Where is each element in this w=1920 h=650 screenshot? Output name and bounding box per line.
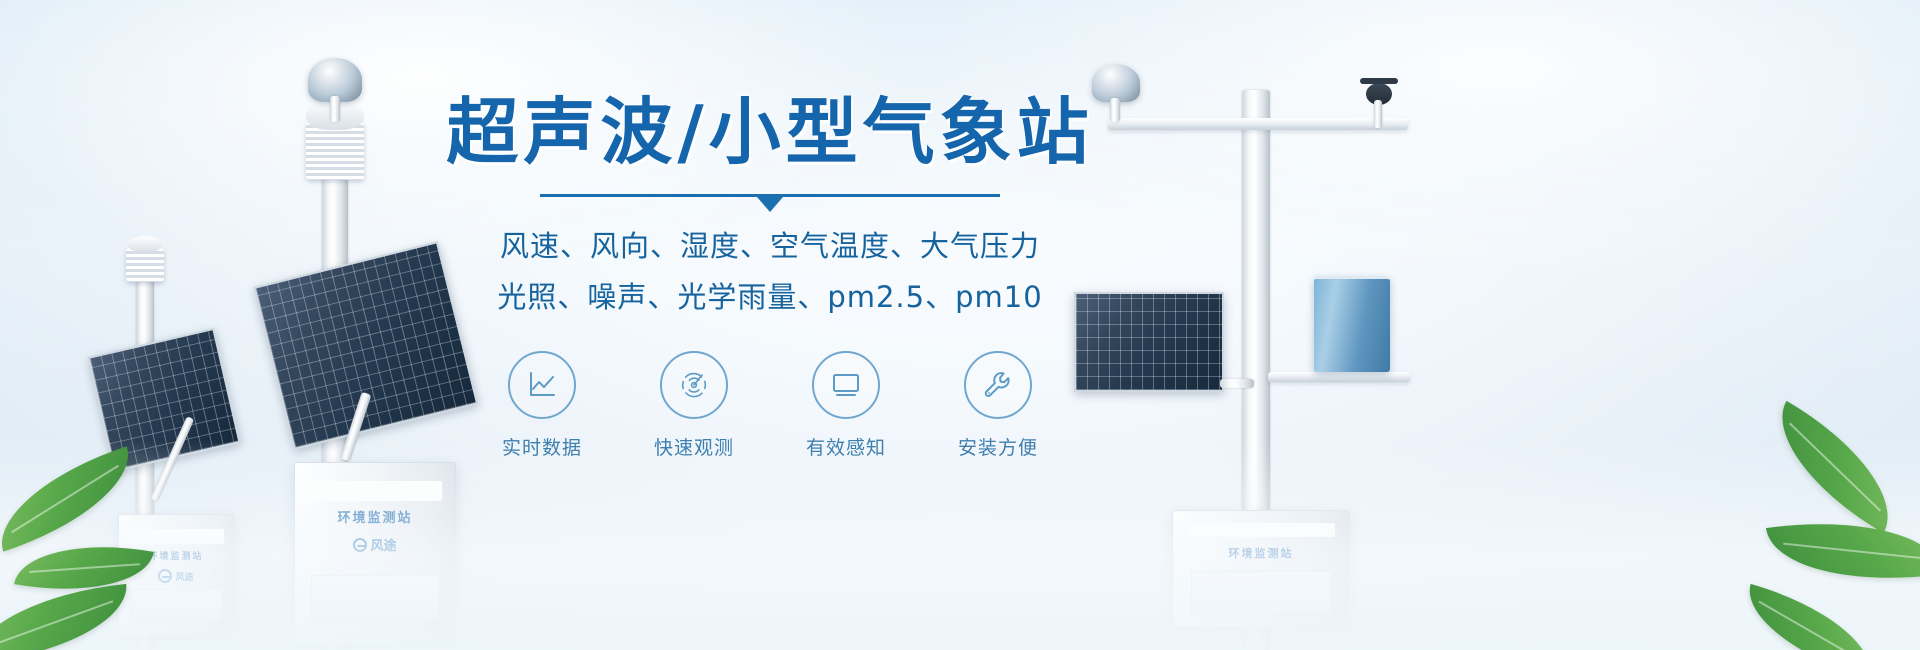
equipment-cabinet: 环境监测站 风途	[294, 462, 456, 644]
brand-name: 风途	[370, 535, 396, 554]
brand-mark-icon	[353, 538, 367, 552]
rain-gauge-sensor	[1314, 276, 1390, 372]
vane-cups-icon	[1360, 78, 1398, 84]
radiation-shield-sensor	[126, 248, 164, 282]
feature-label: 实时数据	[486, 433, 598, 460]
feature-list: 实时数据	[440, 351, 1100, 460]
feature-label: 有效感知	[790, 433, 902, 460]
feature-item-fast-observation[interactable]: 快速观测	[638, 351, 750, 460]
cabinet-band	[308, 481, 442, 501]
title-divider	[540, 194, 1000, 197]
sensor-stem	[1110, 98, 1120, 122]
radar-signal-icon	[677, 368, 711, 402]
feature-icon-circle	[964, 351, 1032, 419]
cross-arm	[1108, 118, 1408, 130]
cabinet-label: 环境监测站	[295, 507, 455, 526]
cabinet-brand: 风途	[295, 535, 455, 554]
sensor-cap	[128, 236, 162, 252]
feature-item-effective-sensing[interactable]: 有效感知	[790, 351, 902, 460]
cabinet-door	[130, 589, 221, 620]
banner-content: 超声波/小型气象站 风速、风向、湿度、空气温度、大气压力 光照、噪声、光学雨量、…	[440, 96, 1100, 460]
brand-name: 风途	[175, 570, 193, 583]
cabinet-door	[1191, 571, 1332, 615]
wrench-icon	[981, 368, 1015, 402]
line-chart-icon	[525, 368, 559, 402]
feature-label: 快速观测	[638, 433, 750, 460]
decorative-leaf	[1735, 584, 1886, 650]
feature-item-realtime-data[interactable]: 实时数据	[486, 351, 598, 460]
subtitle-line-1: 风速、风向、湿度、空气温度、大气压力	[440, 223, 1100, 270]
feature-icon-circle	[508, 351, 576, 419]
product-banner: 环境监测站 风途 环境监测站 风途	[0, 0, 1920, 650]
cabinet-band	[128, 529, 224, 544]
equipment-cabinet: 环境监测站	[1172, 510, 1350, 628]
panel-bracket	[1220, 379, 1254, 388]
feature-label: 安装方便	[942, 433, 1054, 460]
feature-icon-circle	[812, 351, 880, 419]
decorative-leaf	[1754, 401, 1917, 533]
monitor-icon	[829, 368, 863, 402]
page-title: 超声波/小型气象站	[440, 96, 1100, 168]
solar-panel	[87, 328, 240, 472]
vane-stem	[1374, 100, 1382, 128]
weather-station-right: 环境监测站	[1060, 10, 1480, 650]
sensor-stem	[330, 96, 340, 122]
radiation-shield-sensor	[306, 122, 364, 180]
cabinet-label: 环境监测站	[1173, 545, 1349, 561]
cabinet-door	[311, 575, 439, 622]
brand-mark-icon	[158, 569, 172, 583]
feature-icon-circle	[660, 351, 728, 419]
rain-gauge-bracket	[1268, 372, 1410, 382]
feature-item-easy-installation[interactable]: 安装方便	[942, 351, 1054, 460]
subtitle-line-2: 光照、噪声、光学雨量、pm2.5、pm10	[440, 274, 1100, 321]
equipment-cabinet: 环境监测站 风途	[118, 514, 234, 636]
cabinet-band	[1187, 523, 1335, 537]
decorative-leaf	[1766, 505, 1920, 598]
